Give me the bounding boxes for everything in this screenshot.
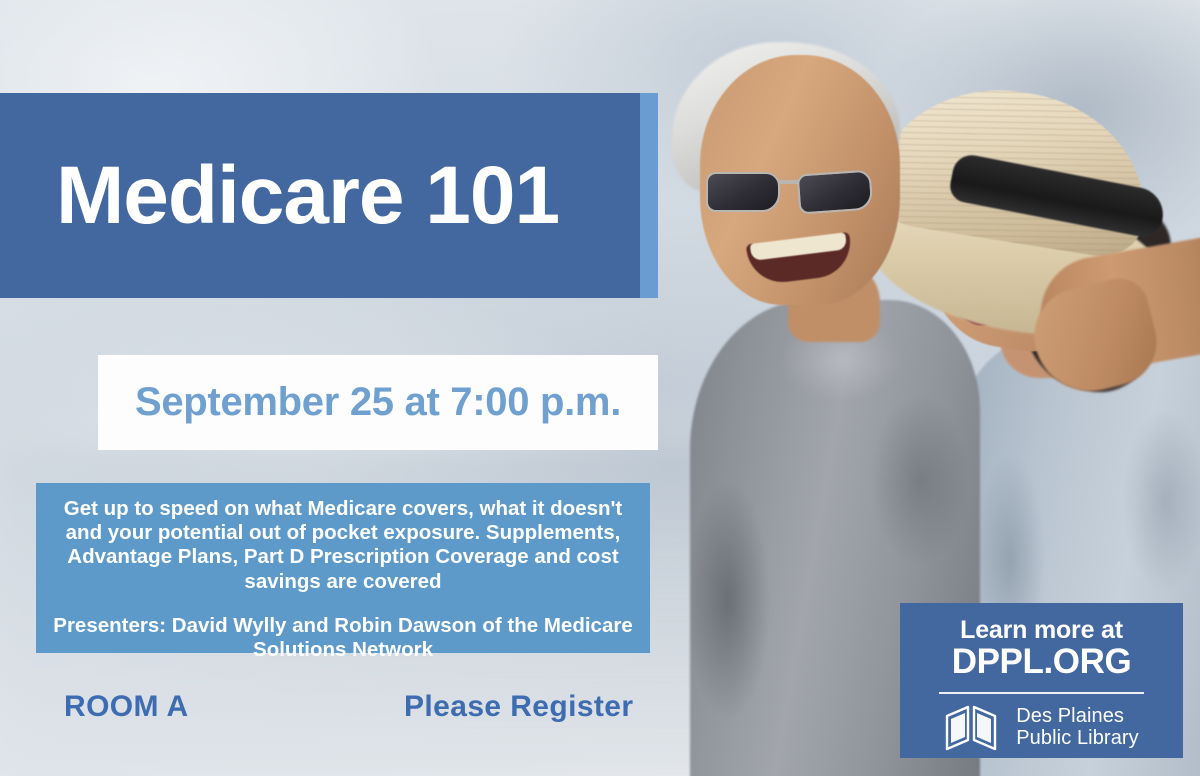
page-title: Medicare 101 [56, 155, 559, 237]
open-book-icon [944, 702, 1006, 752]
description-panel: Get up to speed on what Medicare covers,… [36, 483, 650, 653]
library-name: Des Plaines Public Library [1016, 705, 1139, 750]
event-datetime: September 25 at 7:00 p.m. [135, 380, 621, 425]
title-accent-stripe [640, 93, 658, 298]
register-label[interactable]: Please Register [404, 690, 633, 724]
room-label: ROOM A [64, 690, 189, 724]
learn-more-label: Learn more at [960, 617, 1123, 643]
event-description: Get up to speed on what Medicare covers,… [52, 497, 634, 594]
event-presenters: Presenters: David Wylly and Robin Dawson… [52, 614, 634, 662]
website-label[interactable]: DPPL.ORG [952, 644, 1132, 681]
bottom-info-row: ROOM A Please Register [64, 690, 664, 740]
library-name-line1: Des Plaines [1016, 705, 1139, 727]
date-banner: September 25 at 7:00 p.m. [98, 355, 658, 450]
title-banner: Medicare 101 [0, 93, 640, 298]
library-logo-lockup: Des Plaines Public Library [944, 702, 1139, 752]
library-name-line2: Public Library [1016, 727, 1139, 749]
logo-divider [939, 692, 1144, 694]
library-logo-panel[interactable]: Learn more at DPPL.ORG Des Plaines Publi… [900, 603, 1183, 758]
event-poster: Medicare 101 September 25 at 7:00 p.m. G… [0, 0, 1200, 776]
